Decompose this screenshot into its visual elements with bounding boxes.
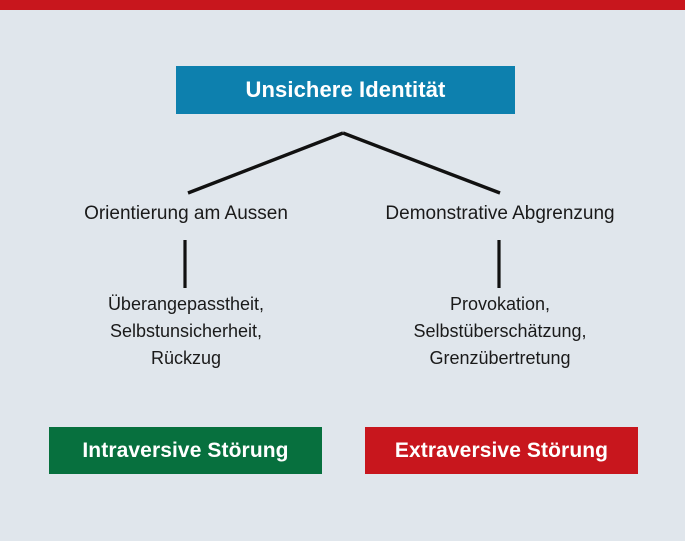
leaf-node-left-label: Intraversive Störung: [82, 439, 288, 463]
leaf-node-right-label: Extraversive Störung: [395, 439, 608, 463]
detail-text-left: Überangepasstheit, Selbstunsicherheit, R…: [36, 291, 336, 372]
leaf-node-extraversive-stoerung[interactable]: Extraversive Störung: [365, 427, 638, 474]
root-node-unsichere-identitaet[interactable]: Unsichere Identität: [176, 66, 515, 114]
detail-line: Rückzug: [36, 345, 336, 372]
diagram-canvas: Unsichere Identität Orientierung am Auss…: [0, 0, 685, 541]
branch-label-orientierung-am-aussen: Orientierung am Aussen: [36, 203, 336, 225]
detail-line: Überangepasstheit,: [36, 291, 336, 318]
fork-line-right: [343, 133, 500, 193]
detail-line: Selbstunsicherheit,: [36, 318, 336, 345]
detail-line: Selbstüberschätzung,: [350, 318, 650, 345]
root-node-label: Unsichere Identität: [246, 77, 446, 103]
top-accent-bar: [0, 0, 685, 10]
branch-label-demonstrative-abgrenzung: Demonstrative Abgrenzung: [350, 203, 650, 225]
detail-line: Grenzübertretung: [350, 345, 650, 372]
detail-line: Provokation,: [350, 291, 650, 318]
detail-text-right: Provokation, Selbstüberschätzung, Grenzü…: [350, 291, 650, 372]
leaf-node-intraversive-stoerung[interactable]: Intraversive Störung: [49, 427, 322, 474]
fork-line-left: [188, 133, 343, 193]
